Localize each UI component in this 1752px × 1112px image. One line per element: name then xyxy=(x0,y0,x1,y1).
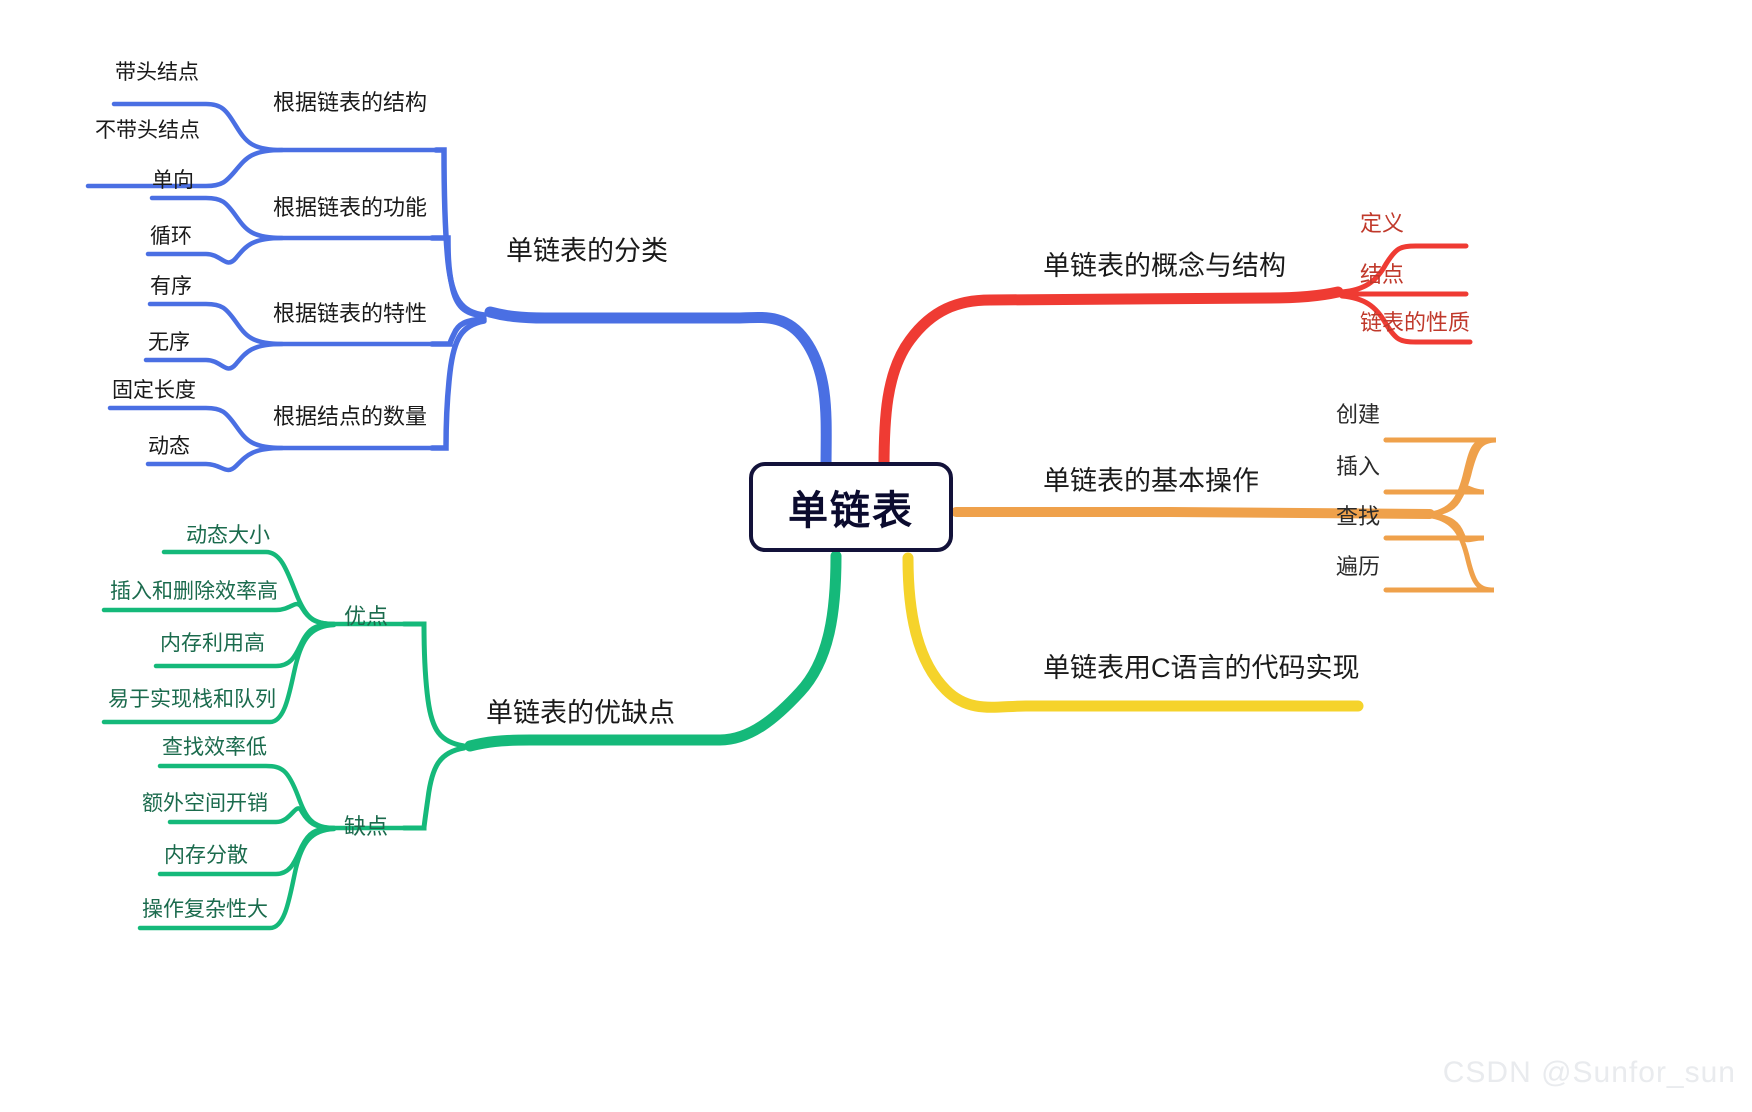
branch-label-classification[interactable]: 单链表的分类 xyxy=(506,238,668,265)
branch-trunk-red xyxy=(884,292,1338,468)
node-label-search[interactable]: 查找 xyxy=(1336,506,1380,528)
node-label-list-properties[interactable]: 链表的性质 xyxy=(1360,312,1470,334)
branch-label-pros-cons[interactable]: 单链表的优缺点 xyxy=(486,700,675,727)
node-label-memory-fragmentation[interactable]: 内存分散 xyxy=(164,845,248,866)
node-label-memory-utilization[interactable]: 内存利用高 xyxy=(160,633,265,654)
node-label-stack-queue[interactable]: 易于实现栈和队列 xyxy=(108,689,276,710)
node-label-structure[interactable]: 根据链表的结构 xyxy=(273,92,427,114)
connector-blue-1 xyxy=(436,150,484,315)
root-node-label: 单链表 xyxy=(788,478,914,536)
subspine-green-pros-2 xyxy=(104,604,334,624)
node-label-fixed-length[interactable]: 固定长度 xyxy=(112,380,196,401)
mindmap-canvas xyxy=(0,0,1752,1112)
connector-green-1 xyxy=(404,624,464,746)
node-label-circular[interactable]: 循环 xyxy=(150,226,192,247)
root-node[interactable]: 单链表 xyxy=(749,462,953,552)
node-label-insert[interactable]: 插入 xyxy=(1336,456,1380,478)
node-label-slow-search[interactable]: 查找效率低 xyxy=(162,737,267,758)
node-label-with-head[interactable]: 带头结点 xyxy=(115,62,199,83)
node-label-single-direction[interactable]: 单向 xyxy=(152,170,194,191)
node-label-dynamic[interactable]: 动态 xyxy=(148,436,190,457)
node-label-efficient-insert-delete[interactable]: 插入和删除效率高 xyxy=(110,581,278,602)
branch-c-implementation xyxy=(908,558,1358,707)
node-label-without-head[interactable]: 不带头结点 xyxy=(95,120,200,141)
node-label-dynamic-size[interactable]: 动态大小 xyxy=(186,525,270,546)
branch-classification xyxy=(88,104,826,470)
node-label-ordered[interactable]: 有序 xyxy=(150,276,192,297)
watermark: CSDN @Sunfor_sun xyxy=(1443,1056,1736,1090)
branch-label-c-implementation[interactable]: 单链表用C语言的代码实现 xyxy=(1043,655,1360,682)
node-label-definition[interactable]: 定义 xyxy=(1360,213,1404,235)
node-label-create[interactable]: 创建 xyxy=(1336,404,1380,426)
node-label-cons[interactable]: 缺点 xyxy=(344,816,388,838)
branch-trunk-blue xyxy=(490,312,826,470)
node-label-extra-space[interactable]: 额外空间开销 xyxy=(142,793,268,814)
connector-orange-1 xyxy=(1386,440,1496,514)
node-label-pros[interactable]: 优点 xyxy=(344,606,388,628)
connector-blue-4 xyxy=(432,321,484,448)
connector-orange-4 xyxy=(1386,516,1494,590)
connector-orange-1b xyxy=(1386,440,1490,514)
node-label-function[interactable]: 根据链表的功能 xyxy=(273,197,427,219)
node-label-unordered[interactable]: 无序 xyxy=(148,332,190,353)
node-label-characteristic[interactable]: 根据链表的特性 xyxy=(273,303,427,325)
branch-trunk-yellow xyxy=(908,558,1358,707)
node-label-node[interactable]: 结点 xyxy=(1360,264,1404,286)
branch-label-basic-operations[interactable]: 单链表的基本操作 xyxy=(1043,468,1259,495)
connector-blue-2 xyxy=(432,238,484,316)
node-label-node-count[interactable]: 根据结点的数量 xyxy=(273,406,427,428)
node-label-traverse[interactable]: 遍历 xyxy=(1336,556,1380,578)
branch-label-concept-structure[interactable]: 单链表的概念与结构 xyxy=(1043,253,1286,280)
branch-basic-operations xyxy=(956,440,1496,590)
connector-green-2 xyxy=(404,748,464,828)
node-label-operation-complexity[interactable]: 操作复杂性大 xyxy=(142,899,268,920)
